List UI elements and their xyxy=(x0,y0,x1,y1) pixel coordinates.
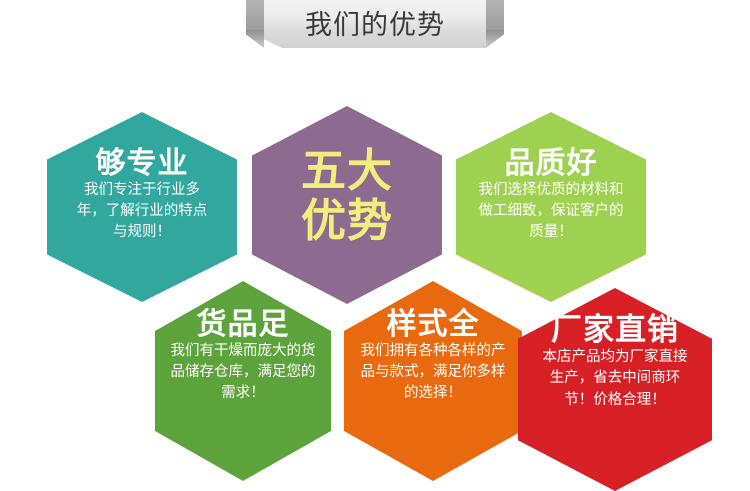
advantage-card-factory[interactable]: 厂家直销 本店产品均为厂家直接生产，省去中间商环节！价格合理！ xyxy=(518,288,712,491)
ribbon-right-fold-icon xyxy=(486,0,504,48)
center-badge-title: 五大优势 xyxy=(297,146,397,247)
advantage-desc-styles: 我们拥有各种各样的产品与款式，满足你多样的选择！ xyxy=(358,341,508,405)
advantage-desc-stock: 我们有干燥而庞大的货品储存仓库，满足您的需求！ xyxy=(168,341,318,405)
advantage-card-professional[interactable]: 够专业 我们专注于行业多年，了解行业的特点与规则！ xyxy=(47,112,237,302)
header-ribbon: 我们的优势 xyxy=(264,0,486,48)
advantage-desc-professional: 我们专注于行业多年，了解行业的特点与规则！ xyxy=(72,180,212,244)
advantage-card-styles[interactable]: 样式全 我们拥有各种各样的产品与款式，满足你多样的选择！ xyxy=(344,281,522,481)
advantage-title-factory: 厂家直销 xyxy=(551,314,679,347)
advantage-card-stock[interactable]: 货品足 我们有干燥而庞大的货品储存仓库，满足您的需求！ xyxy=(155,281,331,481)
advantage-title-quality: 品质好 xyxy=(505,148,598,180)
center-badge: 五大优势 xyxy=(252,106,442,304)
advantage-title-styles: 样式全 xyxy=(387,309,480,341)
advantage-desc-factory: 本店产品均为厂家直接生产，省去中间商环节！价格合理！ xyxy=(537,347,693,412)
advantage-title-professional: 够专业 xyxy=(96,148,189,180)
advantage-desc-quality: 我们选择优质的材料和做工细致，保证客户的质量！ xyxy=(476,180,626,244)
advantage-title-stock: 货品足 xyxy=(197,309,290,341)
advantage-card-quality[interactable]: 品质好 我们选择优质的材料和做工细致，保证客户的质量！ xyxy=(456,112,646,302)
page-title: 我们的优势 xyxy=(264,0,486,48)
advantages-infographic: 我们的优势 够专业 我们专注于行业多年，了解行业的特点与规则！ 五大优势 品质好… xyxy=(0,0,750,491)
ribbon-left-fold-icon xyxy=(246,0,264,48)
